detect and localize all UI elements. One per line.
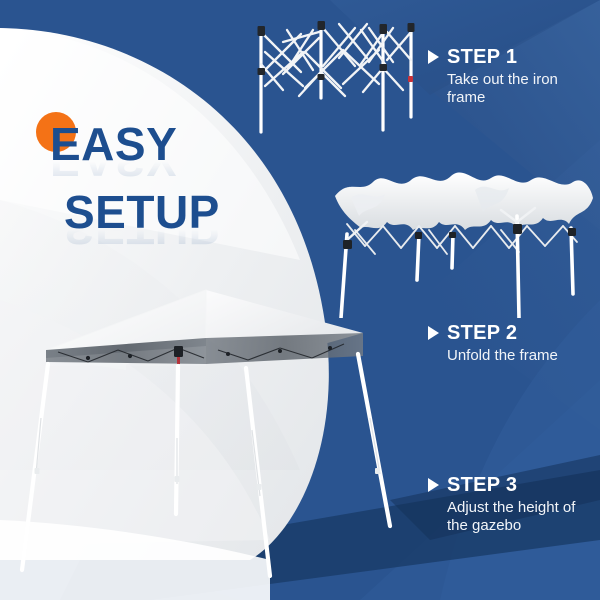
step-1-block: STEP 1 Take out the iron frame — [428, 46, 597, 107]
step-3-block: STEP 3 Adjust the height of the gazebo — [428, 474, 597, 535]
step-3-description: Adjust the height of the gazebo — [447, 499, 597, 535]
triangle-right-icon — [428, 478, 439, 492]
triangle-right-icon — [428, 50, 439, 64]
step-2-title-row: STEP 2 — [428, 322, 558, 344]
triangle-right-icon — [428, 326, 439, 340]
step-2-description: Unfold the frame — [447, 347, 558, 365]
step-2-block: STEP 2 Unfold the frame — [428, 322, 558, 365]
headline-line-1-reflection: EASY — [50, 156, 350, 186]
step-1-title-row: STEP 1 — [428, 46, 597, 68]
step-2-title: STEP 2 — [447, 322, 517, 344]
step-3-title: STEP 3 — [447, 474, 517, 496]
folded-iron-frame-illustration — [243, 12, 418, 147]
infographic-canvas: EASY EASY SETUP SETUP — [0, 0, 600, 600]
step-1-description: Take out the iron frame — [447, 71, 597, 107]
step-1-title: STEP 1 — [447, 46, 517, 68]
headline-line-2-reflection: SETUP — [64, 224, 350, 254]
step-3-title-row: STEP 3 — [428, 474, 597, 496]
assembled-gazebo-illustration — [18, 278, 408, 578]
